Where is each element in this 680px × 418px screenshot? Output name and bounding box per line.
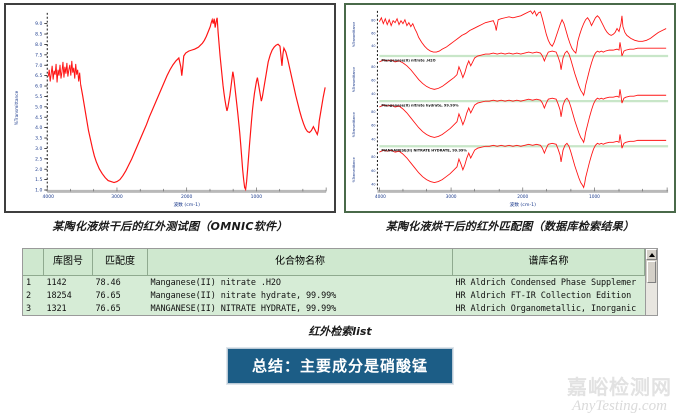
col-header-index[interactable] [23, 249, 44, 276]
svg-text:60: 60 [371, 169, 375, 173]
cell-match: 78.46 [93, 276, 148, 290]
svg-text:40: 40 [371, 137, 375, 141]
scrollbar-thumb[interactable] [647, 261, 656, 283]
ftir-sample-spectrum-plot: 9.08.5 8.07.5 7.06.5 6.05.5 5.04.5 4.03.… [6, 5, 334, 211]
trace-label-ref-1: Manganese(II) nitrate .H2O [381, 59, 435, 63]
svg-text:2.5: 2.5 [35, 156, 42, 162]
svg-text:3000: 3000 [446, 194, 457, 200]
col-header-library-id[interactable]: 库图号 [44, 249, 93, 276]
cell-match: 76.65 [93, 289, 148, 302]
table-scroll-area: 库图号 匹配度 化合物名称 谱库名称 1 1142 78.46 Manganes… [23, 249, 645, 315]
svg-text:9.0: 9.0 [35, 21, 42, 27]
trace-label-ref-3: MANGANESE(II) NITRATE HYDRATE, 99.99% [381, 149, 467, 153]
watermark-en: AnyTesting.com [567, 398, 672, 415]
scrollbar-track[interactable] [646, 283, 657, 315]
right-chart-block: Manganese(II) nitrate .H2O Manganese(II)… [344, 3, 676, 234]
svg-text:3.5: 3.5 [35, 136, 42, 142]
svg-text:%Transmittance: %Transmittance [14, 90, 20, 125]
svg-text:波数 (cm-1): 波数 (cm-1) [510, 201, 537, 208]
svg-text:60: 60 [371, 31, 375, 35]
cell-compound: MANGANESE(II) NITRATE HYDRATE, 99.99% [148, 302, 453, 315]
left-chart-frame: 9.08.5 8.07.5 7.06.5 6.05.5 5.04.5 4.03.… [4, 3, 336, 213]
svg-text:2000: 2000 [181, 194, 193, 200]
charts-row: 9.08.5 8.07.5 7.06.5 6.05.5 5.04.5 4.03.… [0, 0, 680, 234]
cell-index: 1 [23, 276, 44, 290]
col-header-library[interactable]: 谱库名称 [453, 249, 645, 276]
summary-row: 总结：主要成分是硝酸锰 [0, 348, 680, 384]
summary-banner: 总结：主要成分是硝酸锰 [227, 348, 453, 384]
table-row[interactable]: 3 1321 76.65 MANGANESE(II) NITRATE HYDRA… [23, 302, 645, 315]
svg-text:40: 40 [371, 182, 375, 186]
svg-text:2.0: 2.0 [35, 167, 42, 173]
cell-compound: Manganese(II) nitrate .H2O [148, 276, 453, 290]
svg-text:8.5: 8.5 [35, 32, 42, 38]
svg-text:1.0: 1.0 [35, 188, 42, 194]
cell-match: 76.65 [93, 302, 148, 315]
cell-library-id: 1321 [44, 302, 93, 315]
cell-index: 3 [23, 302, 44, 315]
table-vertical-scrollbar[interactable] [645, 249, 657, 315]
svg-text:60: 60 [371, 79, 375, 83]
svg-text:3.0: 3.0 [35, 146, 42, 152]
svg-text:6.5: 6.5 [35, 73, 42, 79]
svg-text:80: 80 [371, 110, 375, 114]
table-row[interactable]: 1 1142 78.46 Manganese(II) nitrate .H2O … [23, 276, 645, 290]
trace-label-ref-2: Manganese(II) nitrate hydrate, 99.99% [381, 104, 459, 108]
svg-text:1.5: 1.5 [35, 177, 42, 183]
svg-text:%Transmittance: %Transmittance [352, 157, 356, 182]
col-header-compound[interactable]: 化合物名称 [148, 249, 453, 276]
table-row[interactable]: 2 18254 76.65 Manganese(II) nitrate hydr… [23, 289, 645, 302]
svg-text:7.0: 7.0 [35, 63, 42, 69]
scroll-up-arrow-icon[interactable] [646, 249, 657, 260]
svg-text:5.0: 5.0 [35, 104, 42, 110]
cell-library-id: 18254 [44, 289, 93, 302]
left-chart-block: 9.08.5 8.07.5 7.06.5 6.05.5 5.04.5 4.03.… [4, 3, 336, 234]
svg-text:60: 60 [371, 124, 375, 128]
ftir-library-match-plot: Manganese(II) nitrate .H2O Manganese(II)… [346, 5, 674, 211]
svg-text:4000: 4000 [375, 194, 386, 200]
svg-text:4.0: 4.0 [35, 125, 42, 131]
svg-text:1000: 1000 [589, 194, 600, 200]
svg-text:%Transmittance: %Transmittance [352, 22, 356, 47]
svg-text:8.0: 8.0 [35, 42, 42, 48]
cell-library: HR Aldrich FT-IR Collection Edition [453, 289, 645, 302]
svg-text:3000: 3000 [111, 194, 123, 200]
right-chart-frame: Manganese(II) nitrate .H2O Manganese(II)… [344, 3, 676, 213]
cell-library-id: 1142 [44, 276, 93, 290]
svg-text:1000: 1000 [251, 194, 263, 200]
left-chart-caption: 某陶化液烘干后的红外测试图（OMNIC软件） [4, 213, 336, 234]
svg-text:2000: 2000 [517, 194, 528, 200]
svg-text:%Transmittance: %Transmittance [352, 112, 356, 137]
svg-text:80: 80 [371, 19, 375, 23]
svg-text:40: 40 [371, 92, 375, 96]
svg-text:7.5: 7.5 [35, 52, 42, 58]
search-results-panel: 库图号 匹配度 化合物名称 谱库名称 1 1142 78.46 Manganes… [22, 248, 658, 316]
svg-text:4.5: 4.5 [35, 115, 42, 121]
cell-library: HR Aldrich Organometallic, Inorganic [453, 302, 645, 315]
svg-text:%Transmittance: %Transmittance [352, 67, 356, 92]
cell-index: 2 [23, 289, 44, 302]
svg-text:80: 80 [371, 65, 375, 69]
svg-text:4000: 4000 [42, 194, 54, 200]
svg-text:6.0: 6.0 [35, 84, 42, 90]
results-list-caption: 红外检索list [0, 323, 680, 339]
cell-compound: Manganese(II) nitrate hydrate, 99.99% [148, 289, 453, 302]
search-results-table: 库图号 匹配度 化合物名称 谱库名称 1 1142 78.46 Manganes… [23, 249, 645, 315]
table-header-row: 库图号 匹配度 化合物名称 谱库名称 [23, 249, 645, 276]
svg-text:40: 40 [371, 44, 375, 48]
right-chart-caption: 某陶化液烘干后的红外匹配图（数据库检索结果） [344, 213, 676, 234]
svg-text:80: 80 [371, 155, 375, 159]
cell-library: HR Aldrich Condensed Phase Supplemer [453, 276, 645, 290]
col-header-match[interactable]: 匹配度 [93, 249, 148, 276]
svg-text:5.5: 5.5 [35, 94, 42, 100]
svg-text:波数 (cm-1): 波数 (cm-1) [173, 201, 200, 208]
